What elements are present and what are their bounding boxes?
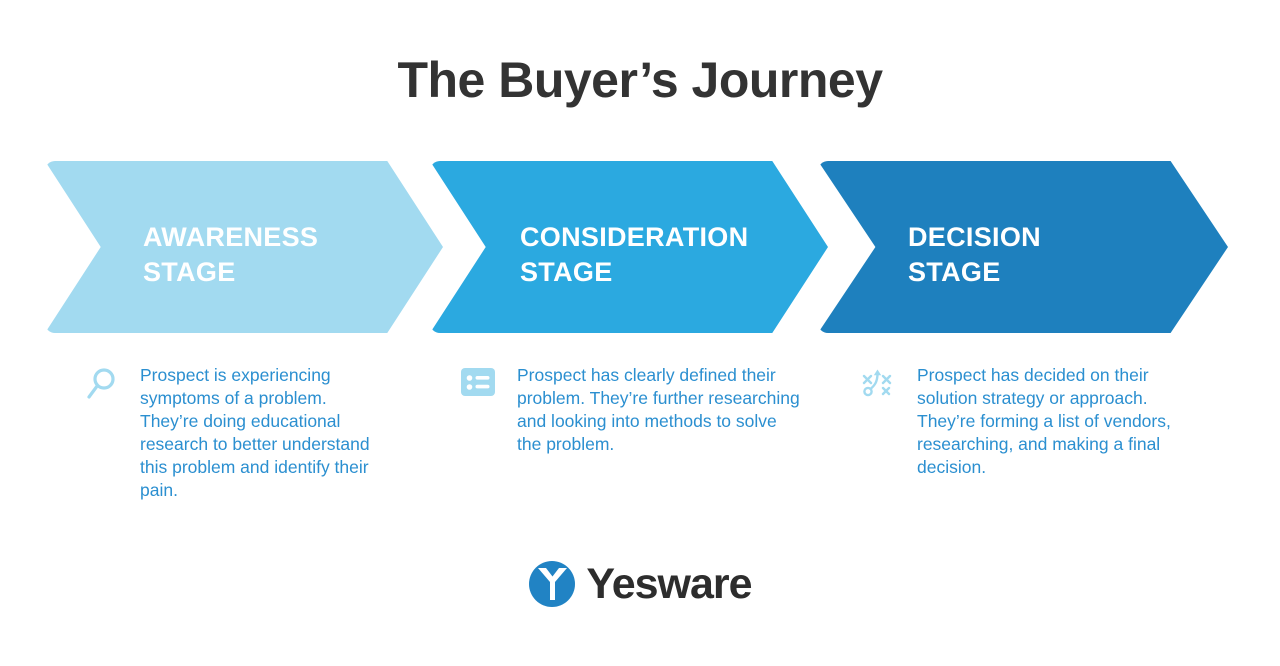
stage-description-decision: Prospect has decided on their solution s…	[855, 364, 1200, 479]
stage-label-consideration: CONSIDERATION STAGE	[520, 220, 748, 289]
yesware-logo: Yesware	[0, 560, 1280, 608]
stage-description-awareness: Prospect is experiencing symptoms of a p…	[78, 364, 378, 503]
magnifying-glass-icon	[78, 364, 124, 408]
yesware-y-circle-icon	[528, 560, 576, 608]
stage-description-text: Prospect is experiencing symptoms of a p…	[140, 364, 378, 503]
yesware-wordmark: Yesware	[586, 563, 751, 606]
stage-description-row: Prospect is experiencing symptoms of a p…	[0, 364, 1280, 514]
page-title: The Buyer’s Journey	[0, 50, 1280, 110]
list-card-icon	[455, 364, 501, 408]
stage-description-text: Prospect has clearly defined their probl…	[517, 364, 805, 456]
stage-description-text: Prospect has decided on their solution s…	[917, 364, 1200, 479]
stage-description-consideration: Prospect has clearly defined their probl…	[455, 364, 805, 456]
strategy-playbook-icon	[855, 364, 901, 408]
infographic-page: The Buyer’s Journey AWARENESS STAGE CONS…	[0, 0, 1280, 666]
stage-label-decision: DECISION STAGE	[908, 220, 1041, 289]
stage-label-awareness: AWARENESS STAGE	[143, 220, 318, 289]
